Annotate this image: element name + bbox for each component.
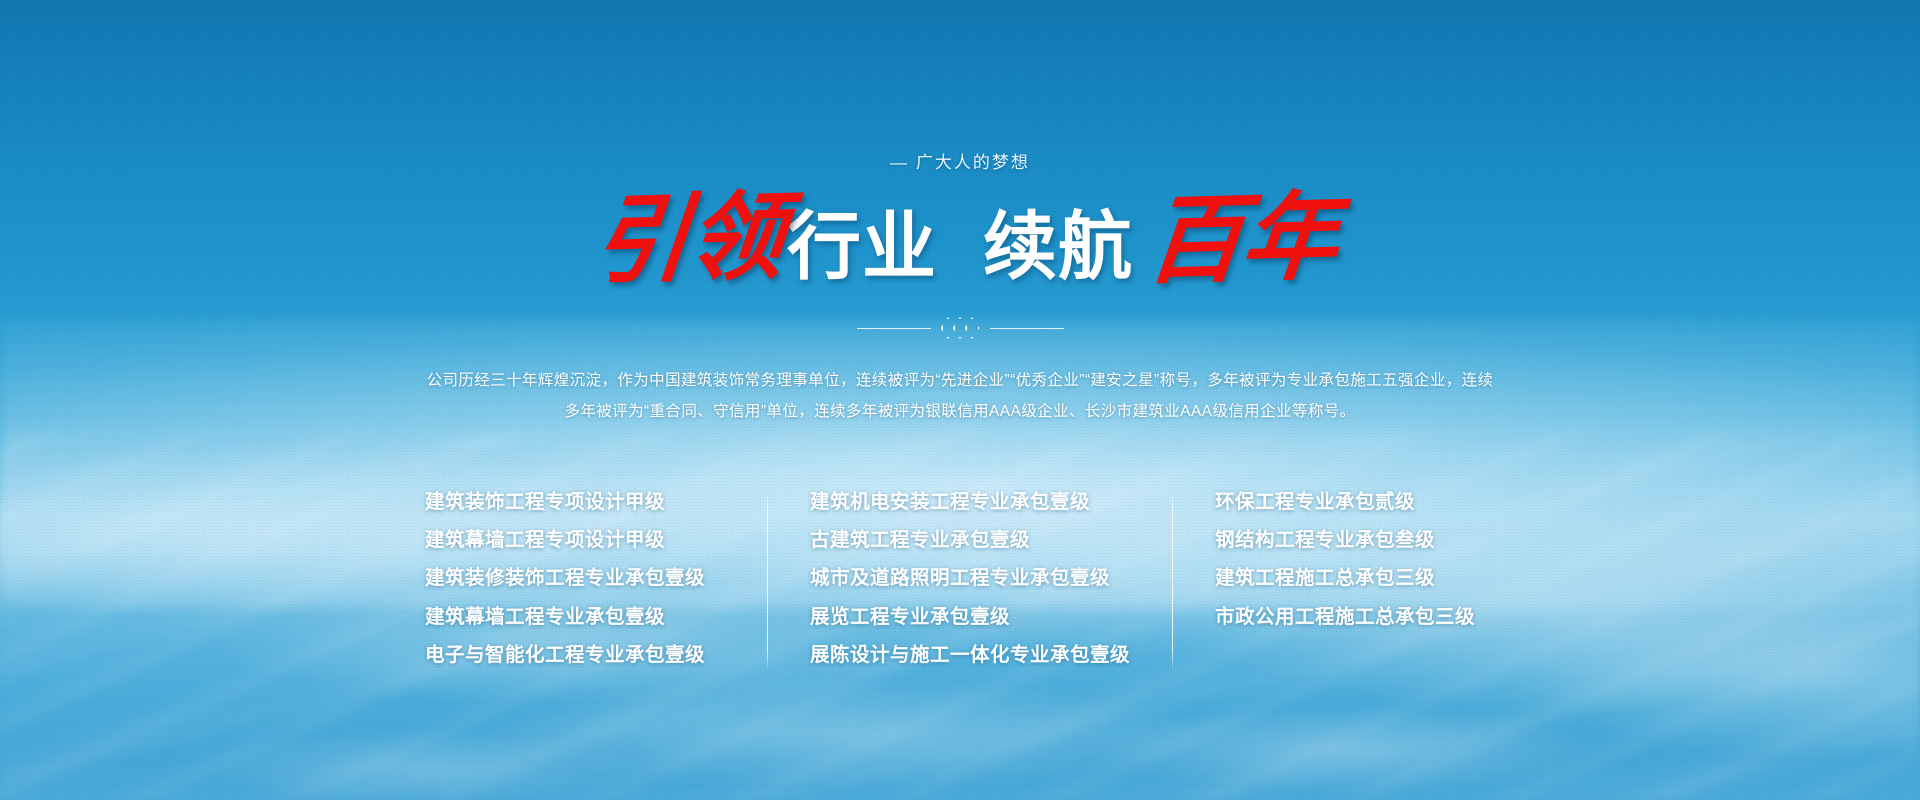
qualification-item: 古建筑工程专业承包壹级	[810, 525, 1030, 556]
qualification-column-3: 环保工程专业承包贰级 钢结构工程专业承包叁级 建筑工程施工总承包三级 市政公用工…	[1173, 487, 1537, 633]
qualifications-section: 建筑装饰工程专项设计甲级 建筑幕墙工程专项设计甲级 建筑装修装饰工程专业承包壹级…	[383, 487, 1537, 671]
headline-part-lead-red: 引领	[589, 189, 787, 290]
qualification-item: 展览工程专业承包壹级	[810, 602, 1010, 633]
qualification-column-1: 建筑装饰工程专项设计甲级 建筑幕墙工程专项设计甲级 建筑装修装饰工程专业承包壹级…	[383, 487, 767, 671]
banner-stage: — 广大人的梦想 引领 行业 续航 百年 公司历经三十年辉煌沉淀，作为中国建筑装…	[0, 0, 1920, 800]
banner-headline: 引领 行业 续航 百年	[589, 191, 1331, 287]
qualification-item: 市政公用工程施工总承包三级	[1215, 602, 1475, 633]
qualification-item: 建筑幕墙工程专业承包壹级	[425, 602, 665, 633]
qualification-item: 建筑机电安装工程专业承包壹级	[810, 487, 1090, 518]
qualification-item: 建筑装饰工程专项设计甲级	[425, 487, 665, 518]
company-description: 公司历经三十年辉煌沉淀，作为中国建筑装饰常务理事单位，连续被评为“先进企业”“优…	[415, 365, 1505, 427]
headline-part-continue-white: 续航	[983, 210, 1133, 284]
qualification-item: 环保工程专业承包贰级	[1215, 487, 1415, 518]
divider-diamonds	[941, 317, 980, 339]
description-line-1: 公司历经三十年辉煌沉淀，作为中国建筑装饰常务理事单位，连续被评为“先进企业”“优…	[415, 365, 1505, 396]
qualification-column-2: 建筑机电安装工程专业承包壹级 古建筑工程专业承包壹级 城市及道路照明工程专业承包…	[768, 487, 1172, 671]
qualification-item: 电子与智能化工程专业承包壹级	[425, 640, 705, 671]
headline-part-century-red: 百年	[1143, 189, 1341, 290]
banner-content: — 广大人的梦想 引领 行业 续航 百年 公司历经三十年辉煌沉淀，作为中国建筑装…	[0, 0, 1920, 800]
diamond-icon	[965, 317, 980, 339]
divider-rule-right	[990, 328, 1064, 329]
qualification-item: 建筑装修装饰工程专业承包壹级	[425, 563, 705, 594]
description-line-2: 多年被评为“重合同、守信用”单位，连续多年被评为银联信用AAA级企业、长沙市建筑…	[415, 396, 1505, 427]
qualification-item: 城市及道路照明工程专业承包壹级	[810, 563, 1110, 594]
qualification-item: 展陈设计与施工一体化专业承包壹级	[810, 640, 1130, 671]
banner-tagline: — 广大人的梦想	[890, 148, 1030, 173]
qualification-item: 建筑幕墙工程专项设计甲级	[425, 525, 665, 556]
qualification-item: 钢结构工程专业承包叁级	[1215, 525, 1435, 556]
headline-part-industry-white: 行业	[787, 210, 937, 284]
divider-rule-left	[857, 328, 931, 329]
diamond-divider-icon	[857, 317, 1064, 339]
qualification-item: 建筑工程施工总承包三级	[1215, 563, 1435, 594]
